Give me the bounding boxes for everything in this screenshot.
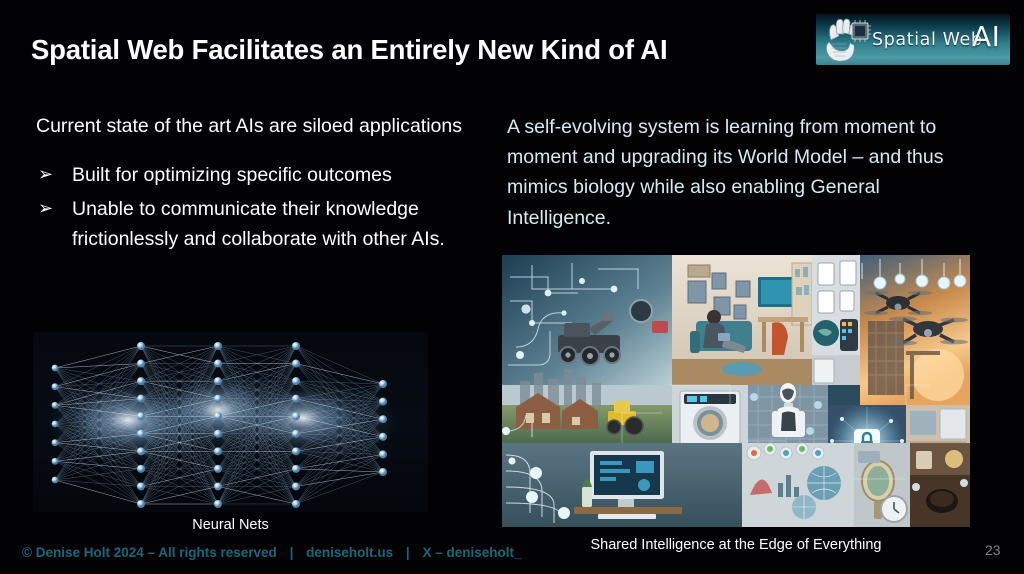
shared-intelligence-collage [502, 255, 970, 527]
arrow-bullet-icon: ➢ [36, 195, 72, 222]
list-item-label: Built for optimizing specific outcomes [72, 161, 486, 191]
slide-number: 23 [985, 542, 1001, 558]
footer-social-handle[interactable]: X – deniseholt_ [422, 545, 521, 560]
footer-website-link[interactable]: deniseholt.us [306, 545, 393, 560]
left-content-column: Current state of the art AIs are siloed … [36, 112, 486, 260]
left-bullet-list: ➢ Built for optimizing specific outcomes… [36, 161, 486, 255]
spatial-web-ai-logo[interactable]: Spatial Web AI [816, 14, 1010, 65]
neural-network-graph [33, 332, 428, 512]
list-item: ➢ Built for optimizing specific outcomes [36, 161, 486, 191]
neural-network-illustration [33, 332, 428, 512]
footer-separator-1: | [281, 545, 303, 560]
slide-canvas: Spatial Web Facilitates an Entirely New … [0, 0, 1024, 574]
right-intro-text: A self-evolving system is learning from … [507, 112, 977, 233]
page-title: Spatial Web Facilitates an Entirely New … [31, 34, 667, 66]
list-item: ➢ Unable to communicate their knowledge … [36, 195, 486, 254]
left-intro-text: Current state of the art AIs are siloed … [36, 112, 486, 142]
right-content-column: A self-evolving system is learning from … [507, 112, 977, 233]
arrow-bullet-icon: ➢ [36, 161, 72, 188]
footer-copyright: © Denise Holt 2024 – All rights reserved [22, 545, 277, 560]
neural-network-caption: Neural Nets [33, 517, 428, 533]
footer-separator-2: | [397, 545, 419, 560]
list-item-label: Unable to communicate their knowledge fr… [72, 195, 486, 254]
collage-artwork [502, 255, 970, 527]
logo-ai-mark: AI [972, 20, 1000, 53]
collage-caption: Shared Intelligence at the Edge of Every… [502, 537, 970, 553]
robotic-hand-chip-icon [821, 16, 871, 63]
footer-credits: © Denise Holt 2024 – All rights reserved… [22, 545, 521, 560]
logo-wordmark: Spatial Web [872, 30, 983, 50]
